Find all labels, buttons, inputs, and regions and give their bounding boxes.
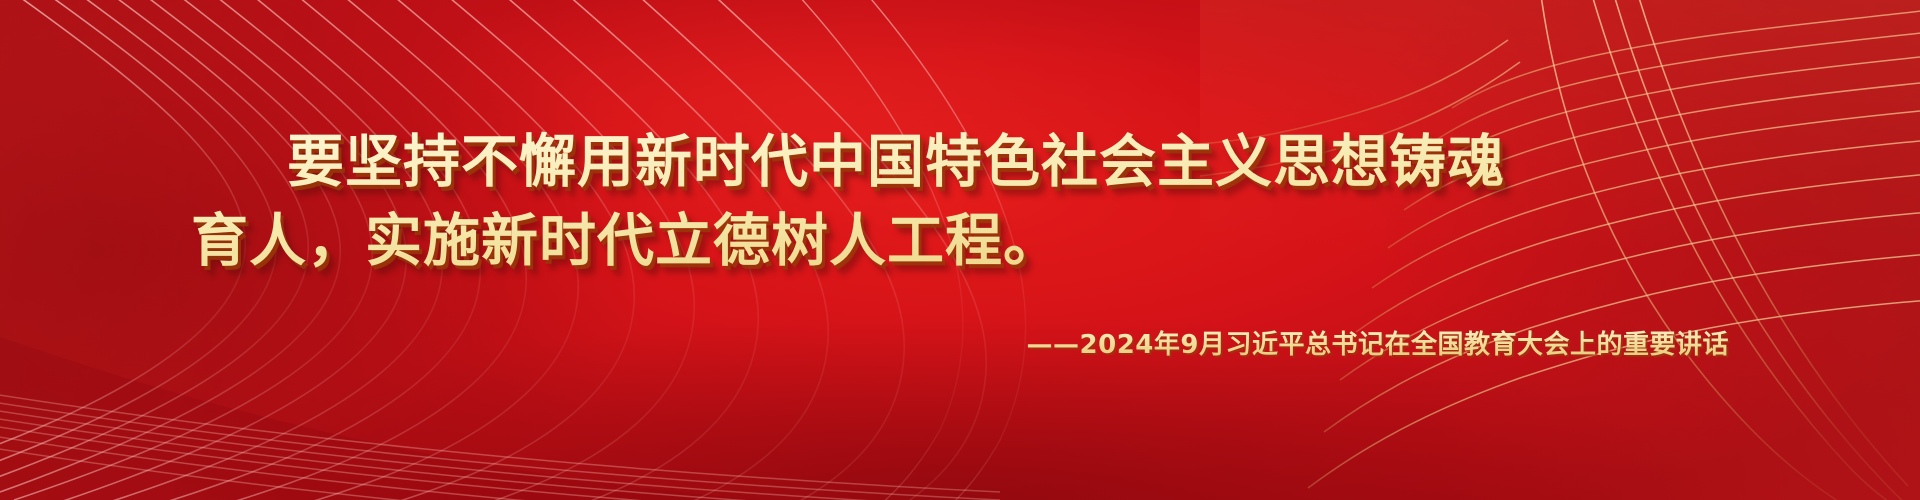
headline-line-2: 育人，实施新时代立德树人工程。	[191, 202, 1751, 281]
headline-line-1: 要坚持不懈用新时代中国特色社会主义思想铸魂	[191, 123, 1751, 202]
headline: 要坚持不懈用新时代中国特色社会主义思想铸魂 育人，实施新时代立德树人工程。	[169, 123, 1751, 280]
attribution-line: ——2024年9月习近平总书记在全国教育大会上的重要讲话	[169, 324, 1751, 361]
banner-content: 要坚持不懈用新时代中国特色社会主义思想铸魂 育人，实施新时代立德树人工程。 ——…	[0, 0, 1920, 500]
propaganda-banner: 要坚持不懈用新时代中国特色社会主义思想铸魂 育人，实施新时代立德树人工程。 ——…	[0, 0, 1920, 500]
